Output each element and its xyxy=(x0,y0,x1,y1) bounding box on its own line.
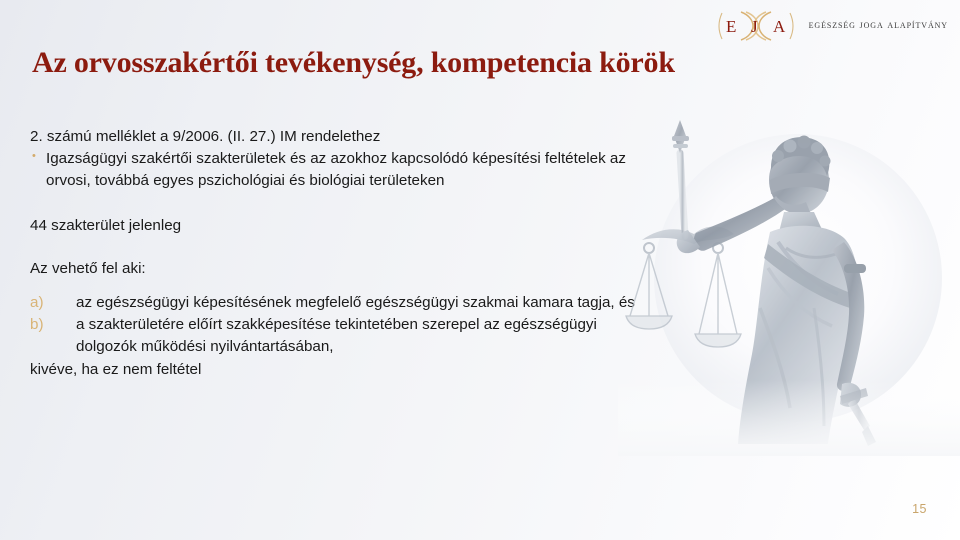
item-text-a: az egészségügyi képesítésének megfelelő … xyxy=(76,292,650,314)
item-marker-b: b) xyxy=(30,314,76,358)
item-text-b: a szakterületére előírt szakképesítése t… xyxy=(76,314,650,358)
page-number: 15 xyxy=(912,502,927,516)
lead-in-line: Az vehető fel aki: xyxy=(30,258,650,280)
svg-text:E: E xyxy=(726,17,736,36)
bullet-list-item: • Igazságügyi szakértői szakterületek és… xyxy=(30,148,650,192)
spacer xyxy=(30,280,650,292)
slide: E J A Egészség Joga Alapítvány Az orvoss… xyxy=(0,0,960,540)
bullet-dot-icon: • xyxy=(30,148,46,192)
lettered-item-a: a) az egészségügyi képesítésének megfele… xyxy=(30,292,650,314)
intro-line: 2. számú melléklet a 9/2006. (II. 27.) I… xyxy=(30,126,650,148)
brand-logo: E J A Egészség Joga Alapítvány xyxy=(713,6,948,46)
lettered-item-b: b) a szakterületére előírt szakképesítés… xyxy=(30,314,650,358)
slide-body: 2. számú melléklet a 9/2006. (II. 27.) I… xyxy=(30,126,650,381)
closing-line: kivéve, ha ez nem feltétel xyxy=(30,359,650,381)
spacer xyxy=(30,193,650,215)
logo-wordmark: Egészség Joga Alapítvány xyxy=(809,19,948,33)
svg-text:A: A xyxy=(773,17,786,36)
svg-text:J: J xyxy=(751,17,758,36)
bullet-item-text: Igazságügyi szakértői szakterületek és a… xyxy=(46,148,650,192)
slide-title: Az orvosszakértői tevékenység, kompetenc… xyxy=(32,46,675,80)
count-line: 44 szakterület jelenleg xyxy=(30,215,650,237)
lady-justice-image xyxy=(618,108,960,456)
item-marker-a: a) xyxy=(30,292,76,314)
eja-monogram-icon: E J A xyxy=(713,6,799,46)
spacer xyxy=(30,237,650,258)
